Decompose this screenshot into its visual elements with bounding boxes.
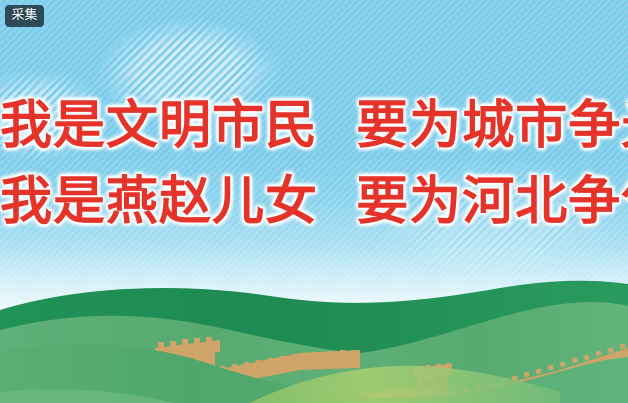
poster-image: 我是文明市民 要为城市争光 我是燕赵儿女 要为河北争气 采集 [0, 0, 628, 403]
slogan-line-2: 我是燕赵儿女 要为河北争气 [0, 164, 628, 240]
slogan-block: 我是文明市民 要为城市争光 我是燕赵儿女 要为河北争气 [0, 88, 628, 240]
capture-button[interactable]: 采集 [5, 5, 44, 27]
slogan-line-1: 我是文明市民 要为城市争光 [0, 88, 628, 164]
